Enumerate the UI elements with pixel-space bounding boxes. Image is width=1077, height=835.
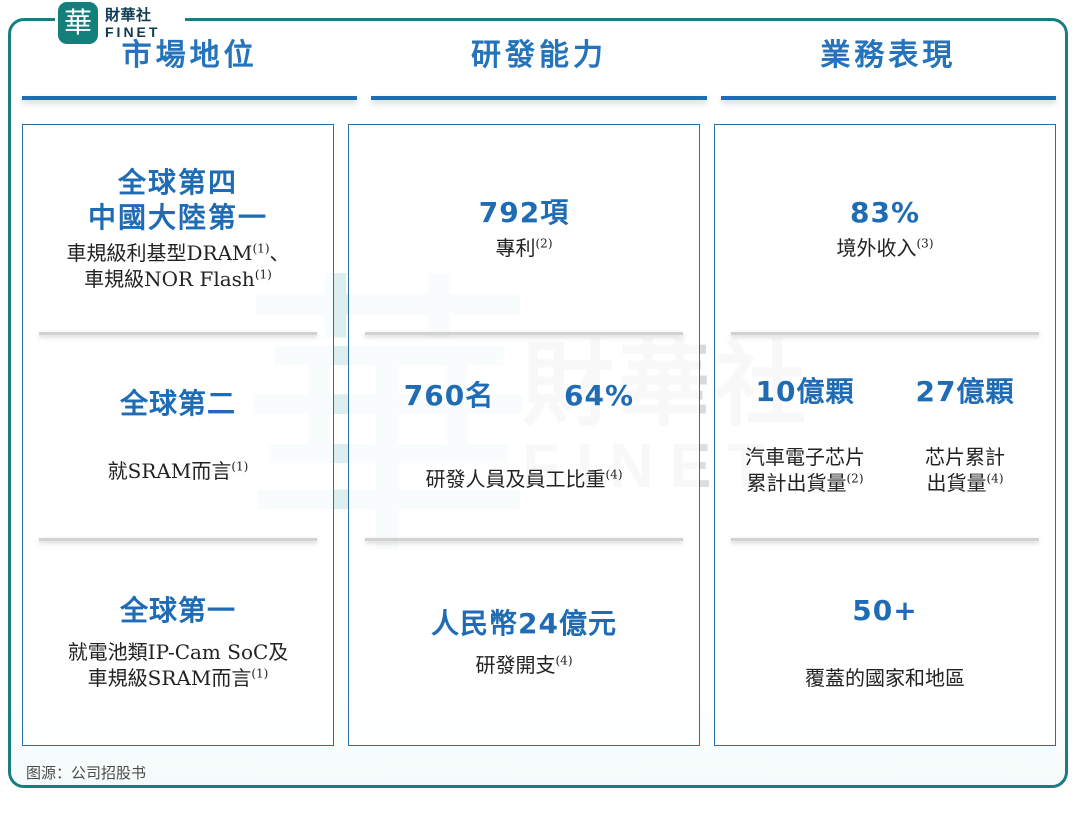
stat-value: 全球第四 中國大陸第一: [88, 165, 268, 237]
footnote-marker: (1): [253, 242, 270, 256]
column-headers: 市場地位 研發能力 業務表現: [22, 38, 1056, 100]
stat-cell: 83% 境外收入(3): [715, 125, 1055, 332]
stat-value: 全球第一: [120, 593, 236, 629]
footnote-marker: (4): [556, 653, 573, 667]
stat-label-line: 覆蓋的國家和地區: [805, 666, 965, 690]
brand-name-cn: 財華社: [105, 8, 160, 23]
finet-logo-icon: 華: [58, 2, 98, 44]
stat-label: 覆蓋的國家和地區: [805, 665, 965, 691]
footnote-marker: (4): [606, 467, 623, 481]
footnote-marker: (1): [251, 666, 268, 680]
card-rnd-capability: 792項 專利(2) 760名 64% 研發人員及員工比重(4) 人民幣24億元: [348, 124, 700, 746]
column-header-rnd-capability: 研發能力: [371, 38, 706, 100]
stat-value-line: 50+: [852, 594, 917, 627]
stat-label-row: 汽車電子芯片累計出貨量(2) 芯片累計出貨量(4): [725, 410, 1045, 496]
stat-label: 汽車電子芯片累計出貨量(2): [725, 444, 885, 496]
footnote-marker: (1): [255, 268, 272, 282]
stat-value: 760名: [374, 378, 524, 414]
column-header-business-performance: 業務表現: [721, 38, 1056, 100]
stat-label-line: 就SRAM而言: [108, 459, 232, 483]
stat-cell: 全球第二 就SRAM而言(1): [23, 332, 333, 539]
header-underline: [721, 96, 1056, 100]
logo-mark-glyph: 華: [64, 9, 92, 37]
stat-value: 83%: [850, 195, 920, 231]
stat-value-line: 中國大陸第一: [88, 201, 268, 234]
stat-value: 64%: [524, 378, 674, 414]
stat-cell: 全球第四 中國大陸第一 車規級利基型DRAM(1)、 車規級NOR Flash(…: [23, 125, 333, 332]
stat-label: 專利(2): [496, 235, 553, 261]
source-note: 图源：公司招股书: [26, 762, 146, 783]
infographic-page: 華 財華社 FINET 華 財華社 FINET 市場地位 研發能力 業務表現: [0, 0, 1077, 835]
stat-label-line: 車規級SRAM而言: [88, 666, 252, 690]
footnote-marker: (3): [917, 237, 934, 251]
stat-value: 792項: [479, 195, 569, 231]
stat-label-row: 研發人員及員工比重(4): [359, 414, 689, 492]
stat-label-line: 就電池類IP-Cam SoC及: [68, 640, 289, 664]
column-header-label: 業務表現: [820, 38, 956, 74]
stat-value: 人民幣24億元: [431, 606, 617, 642]
stat-value: 全球第二: [120, 386, 236, 422]
stat-label-line: 芯片累計: [925, 445, 1005, 469]
stat-label-line: 車規級利基型DRAM: [66, 241, 252, 265]
stat-label-line: 汽車電子芯片: [745, 445, 865, 469]
stat-value-pair: 760名 64%: [359, 378, 689, 414]
label-tail: 、: [270, 241, 290, 265]
stat-label-line: 研發人員及員工比重: [426, 467, 606, 491]
header-underline: [22, 96, 357, 100]
stat-value: 10億顆: [725, 374, 885, 410]
stat-value-line: 83%: [850, 196, 920, 229]
footnote-marker: (2): [536, 237, 553, 251]
footnote-marker: (4): [987, 471, 1004, 485]
header-underline: [371, 96, 706, 100]
stat-label: 就電池類IP-Cam SoC及 車規級SRAM而言(1): [68, 639, 289, 691]
column-header-market-position: 市場地位: [22, 38, 357, 100]
stat-label: 境外收入(3): [837, 235, 934, 261]
stat-cell: 10億顆 27億顆 汽車電子芯片累計出貨量(2) 芯片累計出貨量(4): [715, 332, 1055, 539]
stat-label: 研發人員及員工比重(4): [359, 466, 689, 492]
stat-cell: 50+ 覆蓋的國家和地區: [715, 538, 1055, 745]
stat-value-line: 全球第二: [120, 387, 236, 420]
column-header-label: 研發能力: [471, 38, 607, 74]
stat-label: 研發開支(4): [476, 652, 573, 678]
stat-label: 車規級利基型DRAM(1)、 車規級NOR Flash(1): [66, 240, 289, 292]
footnote-marker: (2): [847, 471, 864, 485]
stat-value-line: 792項: [479, 196, 569, 229]
stat-label-line: 車規級NOR Flash: [84, 267, 255, 291]
stat-cards: 全球第四 中國大陸第一 車規級利基型DRAM(1)、 車規級NOR Flash(…: [22, 124, 1056, 746]
stat-cell: 全球第一 就電池類IP-Cam SoC及 車規級SRAM而言(1): [23, 538, 333, 745]
stat-value-line: 全球第一: [120, 594, 236, 627]
footnote-marker: (1): [231, 459, 248, 473]
brand-wordmark: 財華社 FINET: [105, 8, 160, 39]
stat-cell: 人民幣24億元 研發開支(4): [349, 538, 699, 745]
stat-label: 就SRAM而言(1): [108, 458, 249, 484]
stat-label-line: 研發開支: [476, 653, 556, 677]
stat-value-line: 全球第四: [118, 166, 238, 199]
stat-label-line: 出貨量: [927, 471, 987, 495]
stat-cell: 792項 專利(2): [349, 125, 699, 332]
stat-label-line: 累計出貨量: [747, 471, 847, 495]
stat-cell: 760名 64% 研發人員及員工比重(4): [349, 332, 699, 539]
stat-label-line: 專利: [496, 236, 536, 260]
brand-logo: 華 財華社 FINET: [58, 0, 160, 46]
brand-name-en: FINET: [105, 25, 160, 39]
stat-label: 芯片累計出貨量(4): [885, 444, 1045, 496]
stat-value-pair: 10億顆 27億顆: [725, 374, 1045, 410]
stat-value: 50+: [852, 593, 917, 629]
stat-value-line: 人民幣24億元: [431, 607, 617, 640]
stat-label-line: 境外收入: [837, 236, 917, 260]
stat-value: 27億顆: [885, 374, 1045, 410]
card-market-position: 全球第四 中國大陸第一 車規級利基型DRAM(1)、 車規級NOR Flash(…: [22, 124, 334, 746]
card-business-performance: 83% 境外收入(3) 10億顆 27億顆 汽車電子芯片累計出貨量(2) 芯片累…: [714, 124, 1056, 746]
